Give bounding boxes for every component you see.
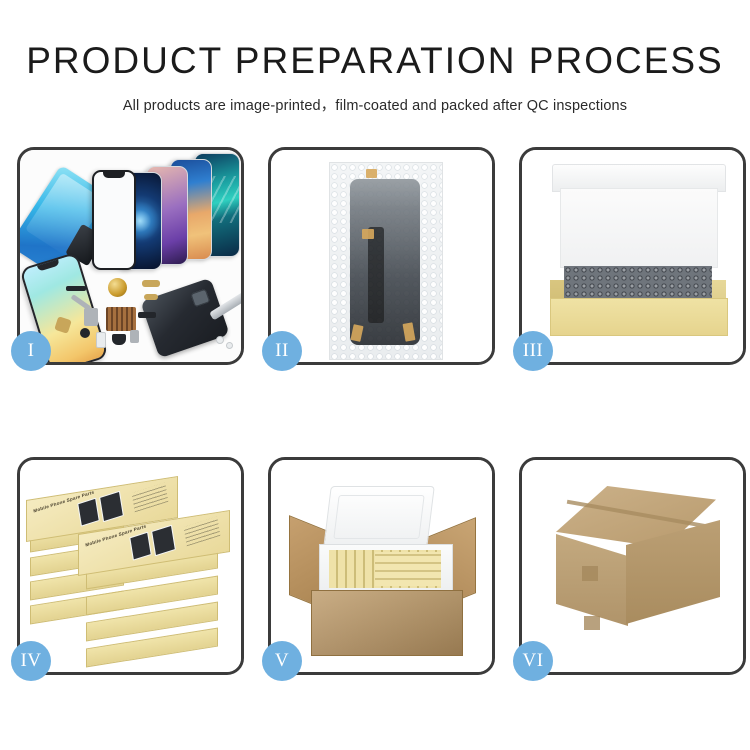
step-2-image (271, 150, 492, 362)
step-5-image (271, 460, 492, 672)
step-badge-4: IV (11, 641, 51, 681)
part-sim-tray-icon (96, 332, 106, 348)
step-badge-3: III (513, 331, 553, 371)
gold-coil-part-icon (108, 278, 127, 297)
bubble-wrap-bag-icon (329, 162, 443, 360)
box-spec-text-2 (184, 516, 221, 546)
box-label-square-2b (151, 525, 176, 557)
wrapped-screen-part-icon (350, 179, 420, 345)
carton-tape-lower-icon (584, 616, 600, 630)
box-label-square-2a (129, 532, 152, 561)
foam-box-lid-icon (323, 486, 435, 548)
part-speaker-icon (112, 334, 126, 345)
step-3-image (522, 150, 743, 362)
page-title: PRODUCT PREPARATION PROCESS (0, 42, 750, 81)
step-1-image (20, 150, 241, 362)
screen-glass-icon (92, 170, 136, 270)
part-button-icon (80, 328, 90, 338)
part-connector-icon (84, 308, 98, 326)
process-steps-grid: I II (17, 147, 746, 675)
step-badge-1: I (11, 331, 51, 371)
process-row-top: I II (17, 147, 746, 365)
yellow-box-front-icon (550, 298, 728, 336)
part-flex-cable-2-icon (144, 294, 158, 300)
step-panel-5: V (268, 457, 495, 675)
yellow-boxes-row-2-icon (375, 552, 441, 586)
box-label-square-1b (99, 491, 124, 523)
box-back-panel-icon (560, 188, 718, 268)
chip-grid-part-icon (106, 307, 136, 331)
step-panel-2: II (268, 147, 495, 365)
step-badge-2: II (262, 331, 302, 371)
carton-body-icon (311, 590, 463, 656)
part-flex-cable-icon (142, 280, 160, 287)
header: PRODUCT PREPARATION PROCESS All products… (0, 0, 750, 115)
screw-2-icon (226, 342, 233, 349)
part-camera-icon (130, 330, 139, 343)
page-subtitle: All products are image-printed，film-coat… (0, 94, 750, 115)
tape-top-icon (366, 169, 377, 178)
step-6-image (522, 460, 743, 672)
screw-icon (216, 336, 224, 344)
step-badge-5: V (262, 641, 302, 681)
product-preparation-infographic: PRODUCT PREPARATION PROCESS All products… (0, 0, 750, 750)
grey-bubble-foam-icon (564, 266, 712, 298)
part-strip-icon (138, 312, 156, 318)
box-spec-text-1 (132, 482, 169, 512)
part-bracket-icon (66, 286, 86, 291)
box-label-square-1a (77, 498, 100, 527)
carton-tape-upper-icon (582, 566, 598, 581)
step-4-image: Mobile Phone Spare Parts Mobile Phone Sp… (20, 460, 241, 672)
step-panel-6: VI (519, 457, 746, 675)
step-panel-3: III (519, 147, 746, 365)
step-badge-6: VI (513, 641, 553, 681)
step-panel-4: Mobile Phone Spare Parts Mobile Phone Sp… (17, 457, 244, 675)
tape-middle-icon (362, 229, 374, 239)
step-panel-1: I (17, 147, 244, 365)
process-row-bottom: Mobile Phone Spare Parts Mobile Phone Sp… (17, 457, 746, 675)
